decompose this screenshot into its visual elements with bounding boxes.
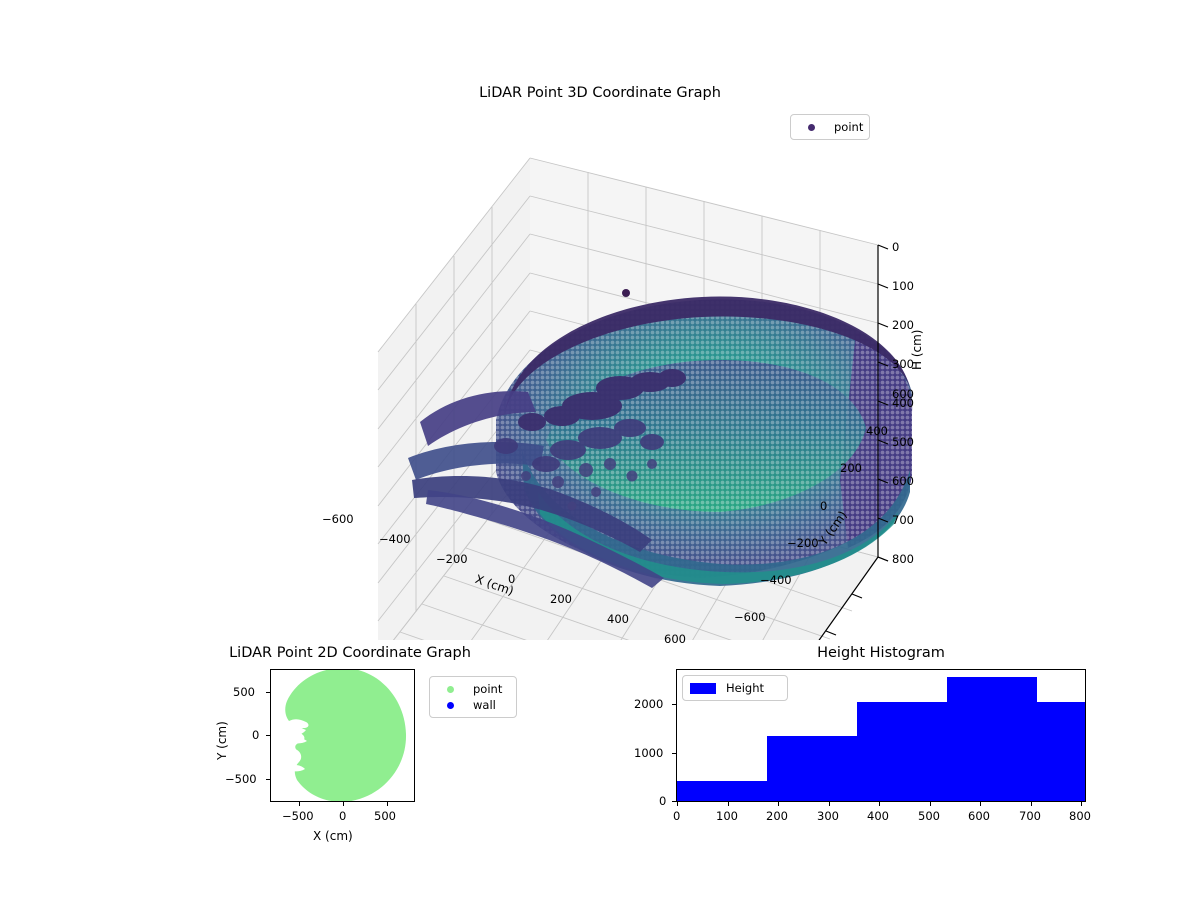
plot2d-xtick-label: 500 <box>374 809 396 823</box>
histogram-xtick-mark <box>1031 802 1032 806</box>
histogram-xtick-mark <box>677 802 678 806</box>
histogram-xtick-mark <box>879 802 880 806</box>
ztick-label: 400 <box>892 396 914 410</box>
histogram-ytick-mark <box>672 704 676 705</box>
plot2d-ytick-mark <box>266 692 270 693</box>
histogram-xtick-label: 200 <box>766 809 788 823</box>
height-patch-icon <box>690 683 716 694</box>
histogram-bar <box>767 736 857 801</box>
legend-item-height: Height <box>690 680 780 696</box>
histogram-bar <box>677 781 767 801</box>
legend-label-wall: wall <box>463 698 496 712</box>
wall-marker-icon <box>437 702 463 709</box>
histogram-xtick-label: 800 <box>1069 809 1091 823</box>
legend-item-point: point <box>437 681 509 697</box>
histogram-xtick-mark <box>829 802 830 806</box>
plot2d-ytick-mark <box>266 735 270 736</box>
plot3d-canvas <box>300 120 920 640</box>
plot2d-axes[interactable] <box>270 669 415 802</box>
plot2d-ytick-label: 500 <box>233 685 255 699</box>
plot2d-xlabel: X (cm) <box>313 829 353 843</box>
plot2d-ylabel: Y (cm) <box>215 721 229 760</box>
ztick-label: 0 <box>892 240 899 254</box>
xtick-label: 200 <box>550 592 572 606</box>
histogram-xtick-label: 500 <box>918 809 940 823</box>
histogram-xtick-mark <box>778 802 779 806</box>
histogram-bar <box>857 702 947 801</box>
matplotlib-figure: LiDAR Point 3D Coordinate Graph point <box>0 0 1200 900</box>
histogram-ytick-mark <box>672 801 676 802</box>
histogram-ytick-label: 0 <box>659 794 666 808</box>
plot2d-point-cloud <box>273 669 414 802</box>
ztick-label: 700 <box>892 513 914 527</box>
histogram-xtick-label: 600 <box>968 809 990 823</box>
plot3d-title: LiDAR Point 3D Coordinate Graph <box>0 85 1200 101</box>
xtick-label: 400 <box>607 612 629 626</box>
histogram-legend[interactable]: Height <box>682 675 788 701</box>
ztick-label: 600 <box>892 474 914 488</box>
ytick-label: −600 <box>734 610 766 624</box>
ztick-label: 500 <box>892 435 914 449</box>
histogram-xtick-label: 400 <box>867 809 889 823</box>
histogram-xtick-mark <box>930 802 931 806</box>
legend-label-point: point <box>463 682 502 696</box>
xtick-label: −400 <box>379 532 411 546</box>
ytick-label: −400 <box>760 573 792 587</box>
histogram-xtick-mark <box>1081 802 1082 806</box>
histogram-xtick-mark <box>728 802 729 806</box>
plot2d-title: LiDAR Point 2D Coordinate Graph <box>205 645 495 661</box>
ztick-label: 100 <box>892 279 914 293</box>
xtick-label: −600 <box>322 512 354 526</box>
ztick-label: 800 <box>892 552 914 566</box>
plot3d-axes[interactable]: −600 −400 −200 0 200 400 600 −600 −400 −… <box>300 120 920 640</box>
plot2d-xtick-label: −500 <box>282 809 314 823</box>
outlier-point <box>622 289 630 297</box>
histogram-title: Height Histogram <box>736 645 1026 661</box>
histogram-xtick-label: 100 <box>716 809 738 823</box>
histogram-ytick-mark <box>672 753 676 754</box>
histogram-bar <box>1037 702 1085 801</box>
plot2d-ytick-label: −500 <box>225 772 257 786</box>
histogram-bar <box>947 677 1037 801</box>
ytick-label: 400 <box>866 424 888 438</box>
plot2d-xtick-mark <box>299 802 300 806</box>
plot2d-legend[interactable]: point wall <box>429 676 517 718</box>
histogram-xtick-mark <box>980 802 981 806</box>
histogram-ytick-label: 1000 <box>634 746 663 760</box>
plot2d-ytick-label: 0 <box>252 728 259 742</box>
point-marker-icon <box>437 686 463 693</box>
legend-label-height: Height <box>716 681 764 695</box>
plot2d-xtick-label: 0 <box>339 809 346 823</box>
ytick-label: 200 <box>840 461 862 475</box>
xtick-label: −200 <box>436 552 468 566</box>
histogram-xtick-label: 0 <box>673 809 680 823</box>
plot3d-zlabel: H (cm) <box>910 330 924 371</box>
histogram-xtick-label: 300 <box>817 809 839 823</box>
histogram-xtick-label: 700 <box>1019 809 1041 823</box>
ytick-label: −200 <box>787 536 819 550</box>
legend-item-wall: wall <box>437 697 509 713</box>
xtick-label: 600 <box>664 632 686 646</box>
plot2d-xtick-mark <box>343 802 344 806</box>
ytick-label: 0 <box>820 499 827 513</box>
histogram-ytick-label: 2000 <box>634 697 663 711</box>
plot2d-xtick-mark <box>387 802 388 806</box>
plot2d-ytick-mark <box>266 779 270 780</box>
